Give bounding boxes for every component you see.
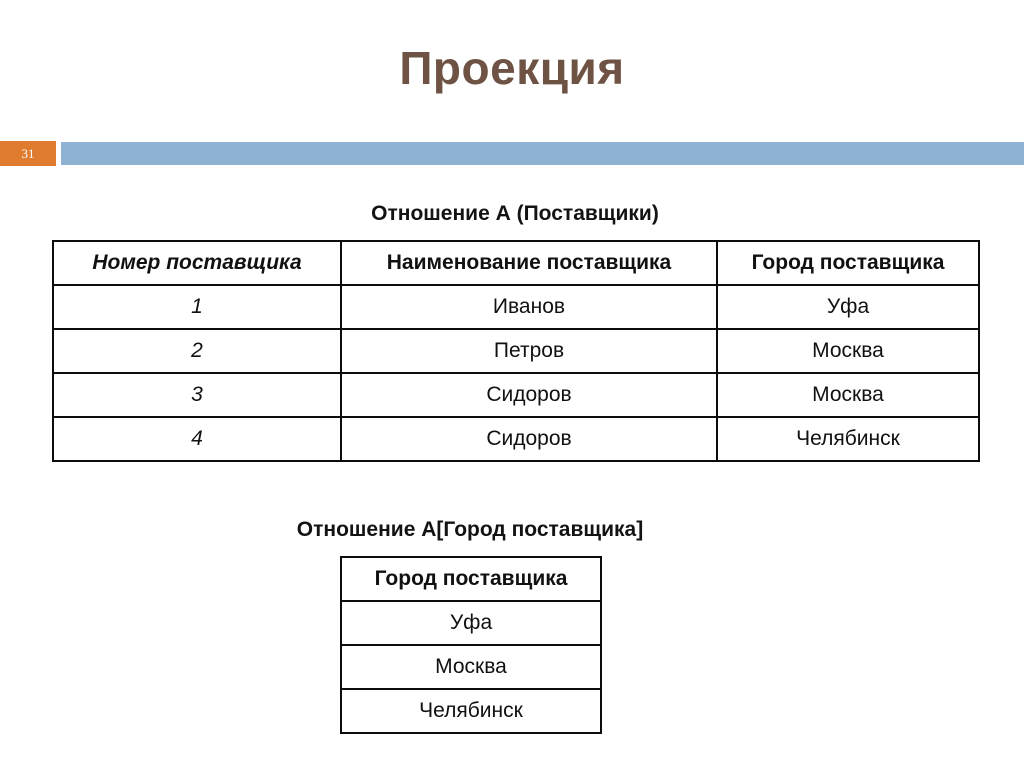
table-row: 3 Сидоров Москва <box>53 373 979 417</box>
column-header-supplier-name: Наименование поставщика <box>341 241 717 285</box>
page-title: Проекция <box>0 44 1024 92</box>
cell-supplier-number: 1 <box>53 285 341 329</box>
table-header-row: Город поставщика <box>341 557 601 601</box>
header-divider: 31 <box>0 141 1024 166</box>
relation-a-table: Номер поставщика Наименование поставщика… <box>52 240 980 462</box>
cell-supplier-name: Иванов <box>341 285 717 329</box>
cell-supplier-city: Уфа <box>341 601 601 645</box>
relation-b-block: Отношение А[Город поставщика] Город пост… <box>182 518 758 734</box>
cell-supplier-number: 4 <box>53 417 341 461</box>
cell-supplier-name: Петров <box>341 329 717 373</box>
cell-supplier-city: Уфа <box>717 285 979 329</box>
table-row: Уфа <box>341 601 601 645</box>
slide-canvas: { "slide": { "title": "Проекция", "numbe… <box>0 0 1024 767</box>
accent-bar <box>61 142 1024 165</box>
column-header-supplier-city: Город поставщика <box>341 557 601 601</box>
table-row: Москва <box>341 645 601 689</box>
cell-supplier-number: 2 <box>53 329 341 373</box>
relation-a-caption: Отношение А (Поставщики) <box>52 202 978 226</box>
table-header-row: Номер поставщика Наименование поставщика… <box>53 241 979 285</box>
cell-supplier-city: Москва <box>717 329 979 373</box>
cell-supplier-city: Москва <box>341 645 601 689</box>
table-row: 2 Петров Москва <box>53 329 979 373</box>
cell-supplier-city: Челябинск <box>717 417 979 461</box>
column-header-supplier-city: Город поставщика <box>717 241 979 285</box>
relation-b-caption: Отношение А[Город поставщика] <box>182 518 758 542</box>
cell-supplier-city: Москва <box>717 373 979 417</box>
slide-number-badge: 31 <box>0 141 56 166</box>
cell-supplier-name: Сидоров <box>341 373 717 417</box>
table-row: Челябинск <box>341 689 601 733</box>
table-row: 1 Иванов Уфа <box>53 285 979 329</box>
cell-supplier-name: Сидоров <box>341 417 717 461</box>
cell-supplier-city: Челябинск <box>341 689 601 733</box>
table-row: 4 Сидоров Челябинск <box>53 417 979 461</box>
cell-supplier-number: 3 <box>53 373 341 417</box>
relation-a-block: Отношение А (Поставщики) Номер поставщик… <box>52 202 978 462</box>
column-header-supplier-number: Номер поставщика <box>53 241 341 285</box>
relation-b-table: Город поставщика Уфа Москва Челябинск <box>340 556 602 734</box>
